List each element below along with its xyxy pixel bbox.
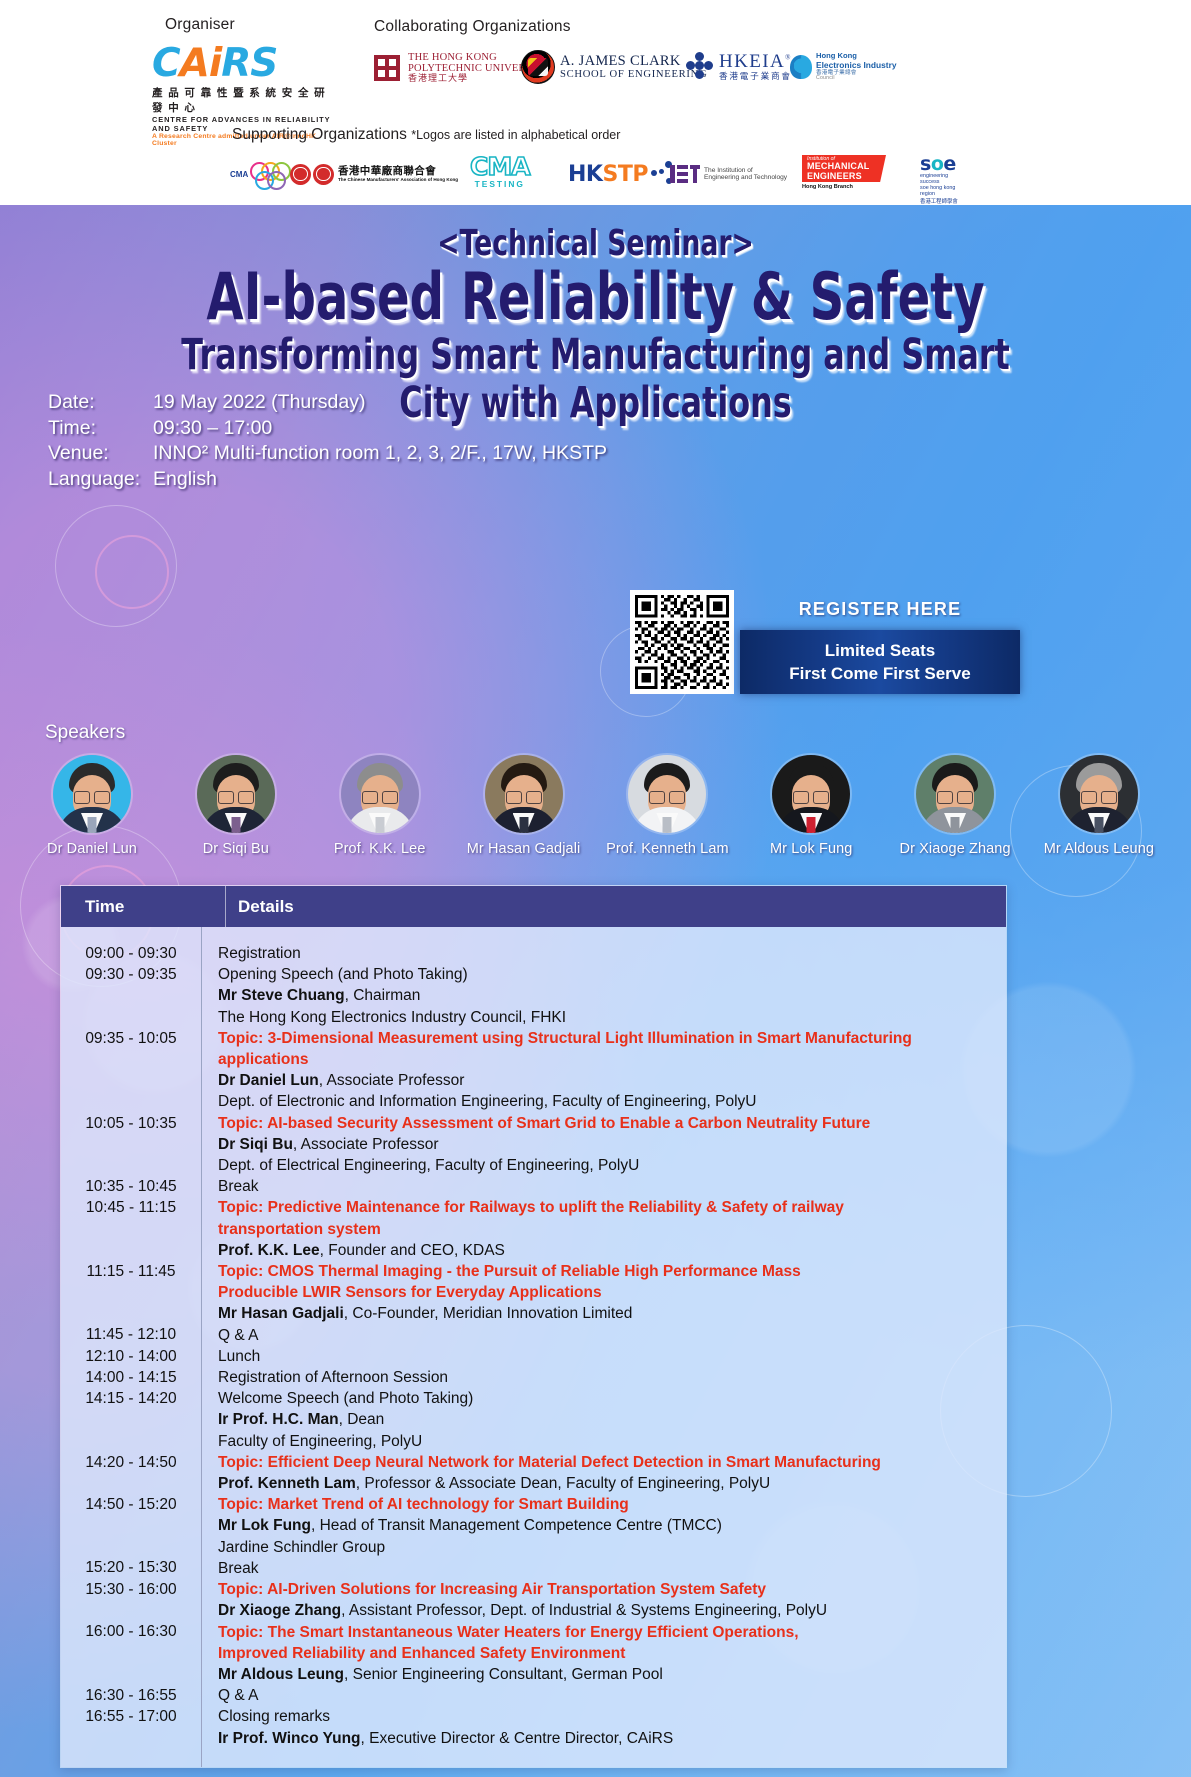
schedule-time-spacer <box>61 1091 201 1112</box>
schedule-detail-cell: Dr Siqi Bu, Associate Professor <box>212 1134 996 1155</box>
speakers-label: Speakers <box>45 722 125 744</box>
schedule-time-spacer <box>61 1663 201 1684</box>
speaker-card: Mr Lok Fung <box>749 755 873 857</box>
schedule-detail-cell: Dept. of Electrical Engineering, Faculty… <box>212 1155 996 1176</box>
cma-logo: CMA <box>230 155 292 193</box>
imeche-badge: Institution of MECHANICAL ENGINEERS <box>802 155 886 182</box>
speaker-name-inline: Prof. Kenneth Lam <box>218 1475 356 1492</box>
schedule-time-cell: 10:05 - 10:35 <box>61 1113 201 1134</box>
avatar-tie <box>951 817 960 833</box>
schedule-detail-cell: Dr Daniel Lun, Associate Professor <box>212 1070 996 1091</box>
info-row-venue: Venue: INNO² Multi-function room 1, 2, 3… <box>48 441 607 467</box>
schedule-time-spacer <box>61 1070 201 1091</box>
avatar-glasses-icon <box>1081 791 1117 802</box>
imeche-branch: Hong Kong Branch <box>802 184 853 190</box>
schedule-detail-cell: Registration of Afternoon Session <box>212 1367 996 1388</box>
supporting-logos-row: CMA 香港中華廠商聯合會 The Chinese Manufacturers'… <box>230 155 960 195</box>
poster-body: <Technical Seminar> AI-based Reliability… <box>0 205 1191 1777</box>
limited-seats-badge: Limited Seats First Come First Serve <box>740 630 1020 694</box>
avatar-glasses-icon <box>362 791 398 802</box>
hkeia-line1: HKEIA <box>719 51 785 72</box>
speaker-card: Prof. Kenneth Lam <box>605 755 729 857</box>
speaker-role-inline: , Associate Professor <box>293 1136 439 1153</box>
schedule-detail-cell: Mr Steve Chuang, Chairman <box>212 985 996 1006</box>
iet-logo: The Institution of Engineering and Techn… <box>670 155 787 193</box>
schedule-detail-cell: Lunch <box>212 1346 996 1367</box>
hkeic-line4: Council <box>816 76 897 82</box>
supporting-note: *Logos are listed in alphabetical order <box>411 128 620 142</box>
speaker-avatar <box>916 755 994 833</box>
schedule-time-cell: 09:30 - 09:35 <box>61 964 201 985</box>
schedule-detail-cell: Ir Prof. Winco Yung, Executive Director … <box>212 1728 996 1749</box>
speaker-avatar <box>485 755 563 833</box>
cma-label: CMA <box>230 170 248 179</box>
schedule-detail-cell: The Hong Kong Electronics Industry Counc… <box>212 1007 996 1028</box>
avatar-glasses-icon <box>506 791 542 802</box>
schedule-detail-cell: Q & A <box>212 1325 996 1346</box>
register-here-label: REGISTER HERE <box>740 599 1020 620</box>
page-title: AI-based Reliability & Safety <box>155 262 1036 334</box>
schedule-time-cell: 10:35 - 10:45 <box>61 1176 201 1197</box>
hkstp-logo: HKSTP <box>568 155 675 193</box>
speaker-name: Mr Lok Fung <box>749 841 873 857</box>
speakers-row: Dr Daniel LunDr Siqi BuProf. K.K. LeeMr … <box>30 755 1161 857</box>
schedule-detail-cell: Prof. K.K. Lee, Founder and CEO, KDAS <box>212 1240 996 1261</box>
avatar-glasses-icon <box>218 791 254 802</box>
schedule-detail-cell: transportation system <box>212 1219 996 1240</box>
schedule-details-column: RegistrationOpening Speech (and Photo Ta… <box>202 927 1006 1767</box>
soe-logo: soe engineering success soe hong kong re… <box>920 155 960 193</box>
event-info: Date: 19 May 2022 (Thursday) Time: 09:30… <box>48 390 607 492</box>
speaker-name-inline: Ir Prof. H.C. Man <box>218 1411 339 1428</box>
schedule-time-spacer <box>61 1536 201 1557</box>
speaker-name: Dr Siqi Bu <box>174 841 298 857</box>
hkcma-seal2-icon <box>313 164 334 185</box>
cma-rings-icon <box>248 161 292 187</box>
schedule-detail-cell: Registration <box>212 943 996 964</box>
speaker-avatar <box>197 755 275 833</box>
iet-line1: The Institution of <box>704 167 787 174</box>
avatar-glasses-icon <box>937 791 973 802</box>
speaker-name-inline: Dr Siqi Bu <box>218 1136 293 1153</box>
schedule-time-cell: 14:50 - 15:20 <box>61 1494 201 1515</box>
cairs-logo: CAiRS 產 品 可 靠 性 暨 系 統 安 全 研 發 中 心 CENTRE… <box>152 44 337 106</box>
hkeic-logo: Hong Kong Electronics Industry 香港電子業總會 C… <box>790 52 897 82</box>
speaker-name: Prof. Kenneth Lam <box>605 841 729 857</box>
schedule-time-spacer <box>61 1409 201 1430</box>
cairs-letter-s: S <box>250 41 277 86</box>
avatar-tie <box>88 817 97 833</box>
info-value-venue: INNO² Multi-function room 1, 2, 3, 2/F.,… <box>153 441 607 467</box>
clark-logo: A. JAMES CLARK SCHOOL OF ENGINEERING <box>521 50 707 84</box>
avatar-tie <box>807 817 816 833</box>
schedule-table: Time Details 09:00 - 09:3009:30 - 09:35 … <box>60 885 1007 1768</box>
hkcma-logo: 香港中華廠商聯合會 The Chinese Manufacturers' Ass… <box>290 155 458 193</box>
imeche-logo: Institution of MECHANICAL ENGINEERS Hong… <box>802 155 886 193</box>
speaker-name-inline: Mr Lok Fung <box>218 1517 311 1534</box>
speaker-name-inline: Dr Xiaoge Zhang <box>218 1602 341 1619</box>
speaker-name-inline: Mr Aldous Leung <box>218 1666 344 1683</box>
schedule-detail-cell: Mr Hasan Gadjali, Co-Founder, Meridian I… <box>212 1303 996 1324</box>
schedule-detail-cell: Topic: CMOS Thermal Imaging - the Pursui… <box>212 1261 996 1282</box>
info-key-time: Time: <box>48 416 153 442</box>
cairs-letter-i: i <box>209 41 221 86</box>
schedule-time-spacer <box>61 1727 201 1748</box>
polyu-mark-icon <box>372 53 402 83</box>
speaker-role-inline: , Professor & Associate Dean, Faculty of… <box>356 1475 770 1492</box>
schedule-time-spacer <box>61 985 201 1006</box>
schedule-time-spacer <box>61 1642 201 1663</box>
qr-code-icon <box>635 595 729 689</box>
speaker-name: Dr Daniel Lun <box>30 841 154 857</box>
schedule-time-cell: 15:30 - 16:00 <box>61 1579 201 1600</box>
avatar-tie <box>663 817 672 833</box>
schedule-time-cell: 16:55 - 17:00 <box>61 1706 201 1727</box>
schedule-detail-cell: Topic: AI-Driven Solutions for Increasin… <box>212 1579 996 1600</box>
soe-wordmark: soe <box>920 155 956 173</box>
schedule-time-cell: 11:45 - 12:10 <box>61 1324 201 1345</box>
schedule-time-cell: 15:20 - 15:30 <box>61 1557 201 1578</box>
hkcma-english: The Chinese Manufacturers' Association o… <box>338 177 458 182</box>
speaker-name-inline: Dr Daniel Lun <box>218 1072 319 1089</box>
schedule-time-cell: 09:00 - 09:30 <box>61 943 201 964</box>
schedule-time-spacer <box>61 1218 201 1239</box>
register-panel: REGISTER HERE Limited Seats First Come F… <box>740 590 1020 694</box>
supporting-label-text: Supporting Organizations <box>232 126 407 143</box>
speaker-name: Prof. K.K. Lee <box>318 841 442 857</box>
cma-testing-word: CMA <box>470 155 530 179</box>
speaker-avatar <box>1060 755 1138 833</box>
schedule-detail-cell: Break <box>212 1558 996 1579</box>
schedule-time-cell: 11:15 - 11:45 <box>61 1261 201 1282</box>
speaker-role-inline: , Chairman <box>345 987 421 1004</box>
schedule-time-spacer <box>61 1473 201 1494</box>
cairs-chinese-name: 產 品 可 靠 性 暨 系 統 安 全 研 發 中 心 <box>152 85 337 115</box>
avatar-tie <box>231 817 240 833</box>
schedule-time-cell: 10:45 - 11:15 <box>61 1197 201 1218</box>
schedule-time-spacer <box>61 1600 201 1621</box>
speaker-card: Dr Siqi Bu <box>174 755 298 857</box>
speaker-avatar <box>341 755 419 833</box>
avatar-glasses-icon <box>649 791 685 802</box>
schedule-time-cell: 16:30 - 16:55 <box>61 1685 201 1706</box>
iet-line2: Engineering and Technology <box>704 174 787 181</box>
speaker-card: Prof. K.K. Lee <box>318 755 442 857</box>
hkstp-stp: STP <box>602 162 647 187</box>
logo-band: Organiser Collaborating Organizations CA… <box>0 0 1191 205</box>
schedule-time-cell: 12:10 - 14:00 <box>61 1346 201 1367</box>
speaker-card: Dr Daniel Lun <box>30 755 154 857</box>
info-row-time: Time: 09:30 – 17:00 <box>48 416 607 442</box>
speaker-card: Mr Hasan Gadjali <box>462 755 586 857</box>
schedule-time-cell: 14:00 - 14:15 <box>61 1367 201 1388</box>
limited-seats-line1: Limited Seats <box>825 639 936 662</box>
speaker-name-inline: Ir Prof. Winco Yung <box>218 1730 361 1747</box>
avatar-tie <box>519 817 528 833</box>
schedule-detail-cell: Topic: Predictive Maintenance for Railwa… <box>212 1197 996 1218</box>
speaker-role-inline: , Assistant Professor, Dept. of Industri… <box>341 1602 827 1619</box>
schedule-detail-cell: Break <box>212 1176 996 1197</box>
schedule-time-cell: 14:20 - 14:50 <box>61 1452 201 1473</box>
speaker-role-inline: , Head of Transit Management Competence … <box>311 1517 722 1534</box>
collaborating-label: Collaborating Organizations <box>374 18 571 36</box>
schedule-detail-cell: Topic: AI-based Security Assessment of S… <box>212 1113 996 1134</box>
speaker-role-inline: , Executive Director & Centre Director, … <box>361 1730 674 1747</box>
hkcma-seal-icon <box>290 164 311 185</box>
schedule-time-spacer <box>61 1007 201 1028</box>
avatar-tie <box>1094 817 1103 833</box>
schedule-time-spacer <box>61 1240 201 1261</box>
iet-mark-icon <box>670 163 700 185</box>
schedule-time-column: 09:00 - 09:3009:30 - 09:35 09:35 - 10:05… <box>61 927 202 1767</box>
speaker-role-inline: , Associate Professor <box>319 1072 465 1089</box>
speaker-name-inline: Mr Hasan Gadjali <box>218 1305 344 1322</box>
speaker-avatar <box>53 755 131 833</box>
schedule-time-spacer <box>61 1303 201 1324</box>
schedule-detail-cell: Improved Reliability and Enhanced Safety… <box>212 1643 996 1664</box>
schedule-detail-cell: Mr Lok Fung, Head of Transit Management … <box>212 1515 996 1536</box>
schedule-detail-cell: Producible LWIR Sensors for Everyday App… <box>212 1282 996 1303</box>
speaker-role-inline: , Dean <box>339 1411 385 1428</box>
schedule-detail-cell: Topic: Efficient Deep Neural Network for… <box>212 1452 996 1473</box>
schedule-detail-cell: applications <box>212 1049 996 1070</box>
schedule-time-spacer <box>61 1155 201 1176</box>
maryland-seal-icon <box>521 50 555 84</box>
hkstp-hk: HK <box>568 162 602 187</box>
schedule-header: Time Details <box>61 886 1006 927</box>
speaker-avatar <box>628 755 706 833</box>
avatar-glasses-icon <box>74 791 110 802</box>
schedule-time-spacer <box>61 1282 201 1303</box>
info-value-date: 19 May 2022 (Thursday) <box>153 390 365 416</box>
speaker-role-inline: , Founder and CEO, KDAS <box>320 1242 505 1259</box>
hkeic-line2: Electronics Industry <box>816 61 897 70</box>
organiser-label: Organiser <box>165 16 235 34</box>
speaker-role-inline: , Co-Founder, Meridian Innovation Limite… <box>344 1305 633 1322</box>
cma-testing-logo: CMA TESTING <box>470 155 530 193</box>
schedule-detail-cell: Closing remarks <box>212 1706 996 1727</box>
schedule-time-cell: 09:35 - 10:05 <box>61 1028 201 1049</box>
info-key-date: Date: <box>48 390 153 416</box>
schedule-detail-cell: Welcome Speech (and Photo Taking) <box>212 1388 996 1409</box>
hkeia-line2: 香港電子業商會 <box>719 72 792 81</box>
decorative-ring <box>55 505 177 627</box>
schedule-time-cell: 16:00 - 16:30 <box>61 1621 201 1642</box>
seminar-kicker: <Technical Seminar> <box>155 223 1036 264</box>
schedule-detail-cell: Faculty of Engineering, PolyU <box>212 1431 996 1452</box>
schedule-detail-cell: Q & A <box>212 1685 996 1706</box>
hkeia-logo: HKEIA® 香港電子業商會 <box>686 52 792 81</box>
hkeia-mark-icon <box>686 52 714 80</box>
schedule-detail-cell: Topic: 3-Dimensional Measurement using S… <box>212 1028 996 1049</box>
hkcma-chinese: 香港中華廠商聯合會 <box>338 166 458 178</box>
info-value-language: English <box>153 467 217 493</box>
cairs-wordmark: CAiRS <box>152 44 337 84</box>
column-header-details: Details <box>225 886 1006 927</box>
speaker-name: Dr Xiaoge Zhang <box>893 841 1017 857</box>
speaker-card: Dr Xiaoge Zhang <box>893 755 1017 857</box>
schedule-detail-cell: Topic: The Smart Instantaneous Water Hea… <box>212 1622 996 1643</box>
speaker-name-inline: Mr Steve Chuang <box>218 987 345 1004</box>
info-key-venue: Venue: <box>48 441 153 467</box>
schedule-detail-cell: Dr Xiaoge Zhang, Assistant Professor, De… <box>212 1600 996 1621</box>
supporting-organizations-label: Supporting Organizations *Logos are list… <box>232 126 620 144</box>
schedule-time-spacer <box>61 1515 201 1536</box>
soe-line2: engineering success <box>920 173 960 185</box>
cairs-letter-a: A <box>180 41 209 86</box>
schedule-detail-cell: Mr Aldous Leung, Senior Engineering Cons… <box>212 1664 996 1685</box>
schedule-time-spacer <box>61 1049 201 1070</box>
schedule-body: 09:00 - 09:3009:30 - 09:35 09:35 - 10:05… <box>61 927 1006 1767</box>
speaker-name: Mr Hasan Gadjali <box>462 841 586 857</box>
info-row-date: Date: 19 May 2022 (Thursday) <box>48 390 607 416</box>
cma-testing-sub: TESTING <box>470 179 530 189</box>
avatar-tie <box>375 817 384 833</box>
info-value-time: 09:30 – 17:00 <box>153 416 272 442</box>
schedule-detail-cell: Opening Speech (and Photo Taking) <box>212 964 996 985</box>
schedule-detail-cell: Topic: Market Trend of AI technology for… <box>212 1494 996 1515</box>
imeche-line3: ENGINEERS <box>807 172 886 181</box>
speaker-card: Mr Aldous Leung <box>1037 755 1161 857</box>
registration-qr-code[interactable] <box>630 590 734 694</box>
info-key-language: Language: <box>48 467 153 493</box>
speaker-name: Mr Aldous Leung <box>1037 841 1161 857</box>
column-header-time: Time <box>61 897 225 917</box>
decorative-ring <box>95 535 169 609</box>
speaker-name-inline: Prof. K.K. Lee <box>218 1242 320 1259</box>
schedule-detail-cell: Prof. Kenneth Lam, Professor & Associate… <box>212 1473 996 1494</box>
schedule-detail-cell: Ir Prof. H.C. Man, Dean <box>212 1409 996 1430</box>
avatar-glasses-icon <box>793 791 829 802</box>
speaker-role-inline: , Senior Engineering Consultant, German … <box>344 1666 663 1683</box>
schedule-detail-cell: Jardine Schindler Group <box>212 1537 996 1558</box>
cairs-letter-r: R <box>221 41 250 86</box>
soe-line3: soe hong kong region <box>920 185 960 197</box>
info-row-language: Language: English <box>48 467 607 493</box>
schedule-time-cell: 14:15 - 14:20 <box>61 1388 201 1409</box>
schedule-time-spacer <box>61 1134 201 1155</box>
cairs-letter-c: C <box>152 41 180 86</box>
limited-seats-line2: First Come First Serve <box>789 662 970 685</box>
hkeic-mark-icon <box>790 55 812 79</box>
schedule-time-spacer <box>61 1430 201 1451</box>
schedule-detail-cell: Dept. of Electronic and Information Engi… <box>212 1091 996 1112</box>
speaker-avatar <box>772 755 850 833</box>
